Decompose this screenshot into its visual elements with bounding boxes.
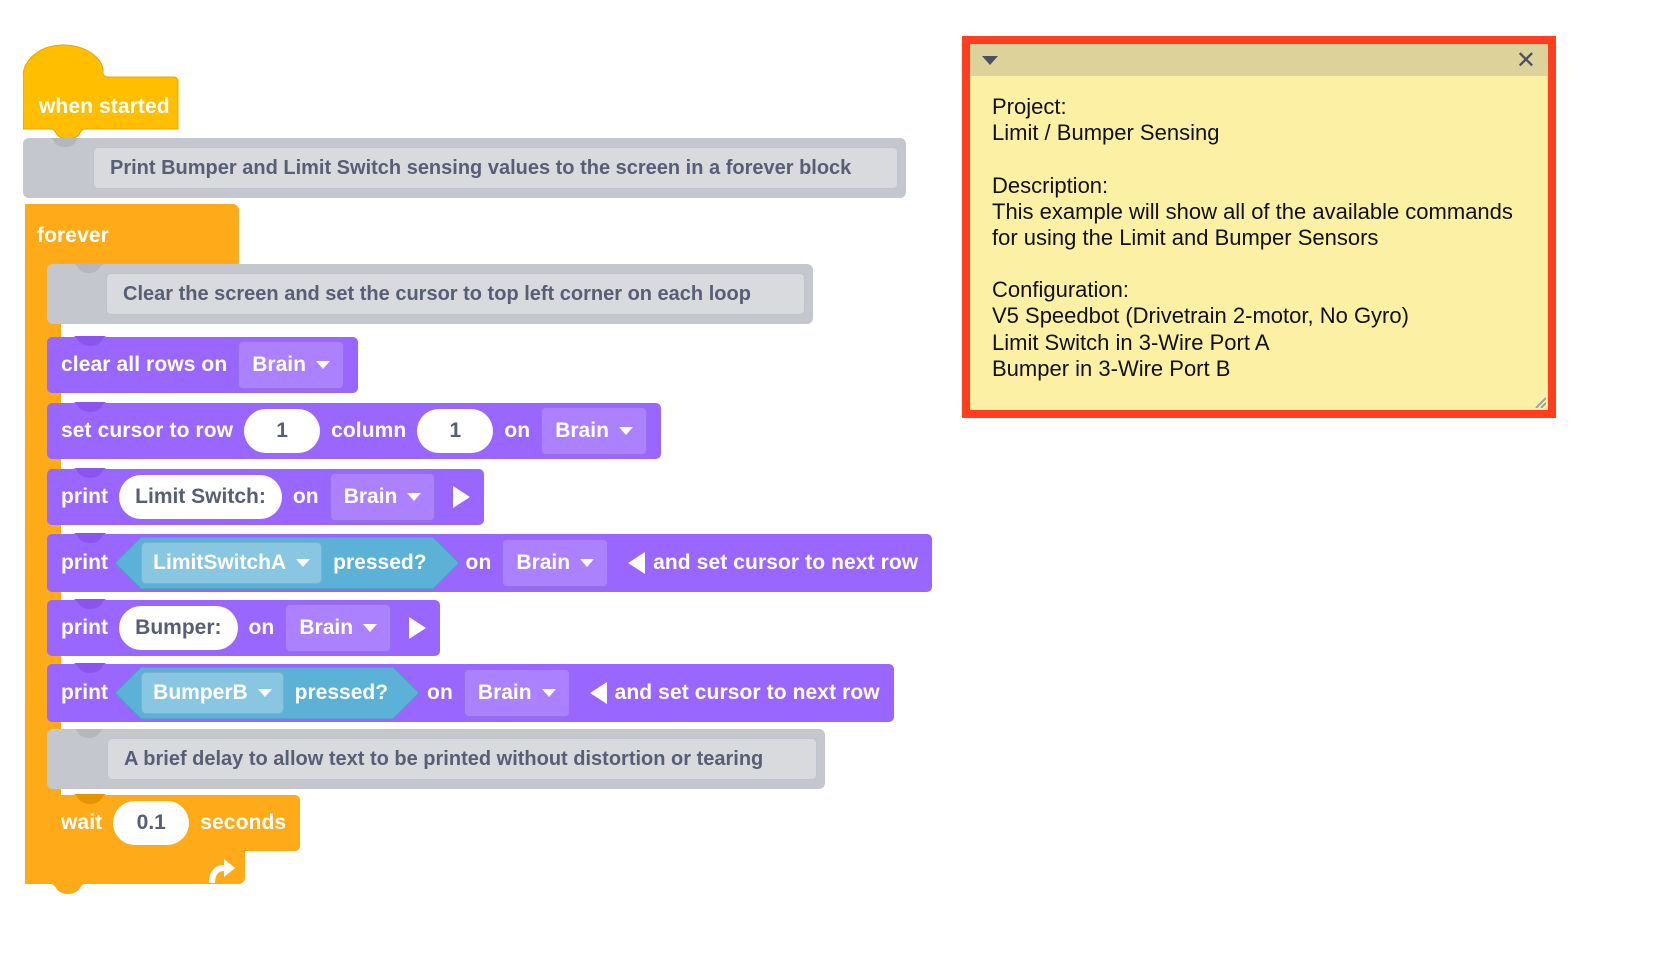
comment-block-2[interactable]: Clear the screen and set the cursor to t… (47, 264, 813, 324)
triangle-down-icon[interactable] (982, 56, 998, 65)
close-icon[interactable]: ✕ (1516, 48, 1536, 72)
print-limit-label-notch (69, 468, 109, 478)
comment-2-text: Clear the screen and set the cursor to t… (123, 283, 751, 306)
print-bumper-label-notch (69, 599, 109, 609)
clear-all-rows-device-dropdown[interactable]: Brain (238, 341, 344, 389)
print-bumper-label-print: print (61, 616, 108, 640)
comment-1-notch (45, 138, 83, 147)
chevron-down-icon (363, 624, 377, 632)
print-bumper-label-value[interactable]: Bumper: (119, 606, 237, 650)
wait-duration-input[interactable]: 0.1 (113, 801, 189, 845)
set-cursor-row-input[interactable]: 1 (244, 409, 320, 453)
wait-units-label: seconds (200, 811, 286, 835)
block-when-started[interactable]: when started (23, 43, 178, 139)
print-limit-label-value[interactable]: Limit Switch: (119, 475, 282, 519)
block-print-limit-value[interactable]: print LimitSwitchA pressed? on Brain (47, 534, 932, 592)
triangle-left-icon[interactable] (590, 682, 607, 704)
print-bumper-value-device-dropdown[interactable]: Brain (464, 669, 570, 717)
block-print-bumper-value[interactable]: print BumperB pressed? on Brain an (47, 664, 894, 722)
comment-1-text: Print Bumper and Limit Switch sensing va… (110, 157, 851, 180)
when-started-label: when started (39, 95, 170, 119)
print-limit-label-on: on (293, 485, 319, 509)
project-note-inner: ✕ Project: Limit / Bumper Sensing Descri… (970, 44, 1548, 410)
print-bumper-label-device-value: Brain (299, 616, 353, 640)
wait-notch (69, 794, 109, 804)
limit-switch-sensor-dropdown[interactable]: LimitSwitchA (141, 542, 322, 584)
comment-3-notch (69, 729, 107, 738)
block-set-cursor[interactable]: set cursor to row 1 column 1 on Brain (47, 403, 661, 459)
resize-handle-icon[interactable] (1530, 392, 1546, 408)
block-clear-all-rows[interactable]: clear all rows on Brain (47, 337, 358, 393)
print-limit-value-on: on (466, 551, 492, 575)
set-cursor-on-label: on (504, 419, 530, 443)
print-bumper-label-on: on (249, 616, 275, 640)
loop-arrow-icon (203, 857, 237, 887)
print-limit-label-print: print (61, 485, 108, 509)
triangle-left-icon[interactable] (628, 552, 645, 574)
block-wait[interactable]: wait 0.1 seconds (47, 795, 300, 851)
set-cursor-row-label: set cursor to row (61, 419, 233, 443)
project-note[interactable]: ✕ Project: Limit / Bumper Sensing Descri… (962, 36, 1556, 418)
print-bumper-value-on: on (427, 681, 453, 705)
clear-all-rows-label: clear all rows on (61, 353, 227, 377)
bumper-sensor-dropdown[interactable]: BumperB (141, 672, 284, 714)
clear-all-rows-notch (69, 336, 109, 346)
comment-block-3[interactable]: A brief delay to allow text to be printe… (47, 729, 825, 789)
print-bumper-value-notch (69, 663, 109, 673)
set-cursor-device-dropdown[interactable]: Brain (541, 407, 647, 455)
triangle-right-icon[interactable] (453, 486, 470, 508)
comment-2-notch (69, 264, 107, 273)
print-limit-value-notch (69, 533, 109, 543)
print-bumper-label-device-dropdown[interactable]: Brain (285, 604, 391, 652)
print-limit-value-print: print (61, 551, 108, 575)
bumper-sensor-value: BumperB (153, 681, 248, 705)
comment-3-text-box[interactable]: A brief delay to allow text to be printe… (107, 738, 817, 780)
set-cursor-device-value: Brain (555, 419, 609, 443)
print-bumper-value-newline-label: and set cursor to next row (615, 681, 880, 705)
comment-1-text-box[interactable]: Print Bumper and Limit Switch sensing va… (93, 147, 898, 189)
clear-all-rows-device-value: Brain (252, 353, 306, 377)
forever-label: forever (37, 224, 109, 248)
chevron-down-icon (258, 689, 272, 697)
chevron-down-icon (296, 559, 310, 567)
set-cursor-notch (69, 402, 109, 412)
chevron-down-icon (316, 361, 330, 369)
project-note-text[interactable]: Project: Limit / Bumper Sensing Descript… (970, 76, 1548, 382)
print-limit-value-device-value: Brain (516, 551, 570, 575)
block-print-limit-label[interactable]: print Limit Switch: on Brain (47, 469, 484, 525)
bumper-property-label: pressed? (295, 681, 388, 705)
print-limit-value-newline-label: and set cursor to next row (653, 551, 918, 575)
when-started-shape (23, 43, 179, 140)
chevron-down-icon (580, 559, 594, 567)
reporter-limit-switch-pressed[interactable]: LimitSwitchA pressed? (115, 537, 454, 589)
limit-switch-sensor-value: LimitSwitchA (153, 551, 286, 575)
reporter-bumper-pressed[interactable]: BumperB pressed? (115, 667, 416, 719)
comment-3-text: A brief delay to allow text to be printe… (124, 748, 763, 771)
block-print-bumper-label[interactable]: print Bumper: on Brain (47, 600, 440, 656)
set-cursor-column-label: column (331, 419, 406, 443)
set-cursor-column-input[interactable]: 1 (417, 409, 493, 453)
print-limit-label-device-dropdown[interactable]: Brain (330, 473, 436, 521)
comment-block-1[interactable]: Print Bumper and Limit Switch sensing va… (23, 138, 906, 198)
chevron-down-icon (542, 689, 556, 697)
wait-label: wait (61, 811, 102, 835)
limit-switch-property-label: pressed? (333, 551, 426, 575)
print-limit-label-device-value: Brain (344, 485, 398, 509)
comment-2-text-box[interactable]: Clear the screen and set the cursor to t… (106, 273, 805, 315)
print-bumper-value-device-value: Brain (478, 681, 532, 705)
print-limit-value-device-dropdown[interactable]: Brain (502, 539, 608, 587)
triangle-right-icon[interactable] (409, 617, 426, 639)
project-note-titlebar[interactable]: ✕ (970, 44, 1548, 76)
print-bumper-value-print: print (61, 681, 108, 705)
chevron-down-icon (619, 427, 633, 435)
chevron-down-icon (407, 493, 421, 501)
